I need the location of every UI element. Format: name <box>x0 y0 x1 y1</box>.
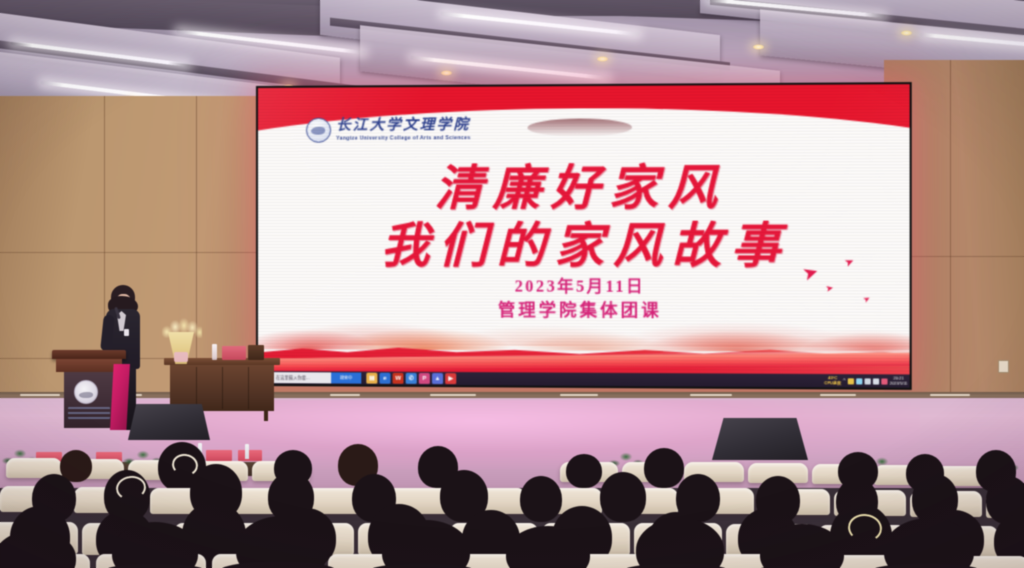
wechat-icon[interactable]: ✆ <box>406 373 417 384</box>
wall-outlet <box>998 360 1009 373</box>
taskbar-search-placeholder: 在这里输入你要... <box>276 375 310 381</box>
audience-head <box>600 472 646 522</box>
clock-date: 2023/5/11 <box>890 381 908 386</box>
slide-organizer: 管理学院集体团课 <box>258 300 910 322</box>
browser-icon[interactable]: e <box>379 373 390 384</box>
slide-subtitle-block: 2023年5月11日 管理学院集体团课 <box>258 278 910 322</box>
institution-name-en: Yangtze University College of Arts and S… <box>336 135 471 142</box>
audience-seating <box>0 430 1024 568</box>
word-icon[interactable]: W <box>393 373 404 384</box>
table-glassware <box>212 344 217 360</box>
windows-taskbar[interactable]: 在这里输入你要... 搜索中 ▤ e W ✆ P ▲ ▶ 43°C CPU温度 … <box>258 371 910 388</box>
table-dark-box <box>248 345 264 360</box>
taskbar-cortana-button[interactable]: 搜索中 <box>331 372 361 383</box>
podium-emblem-icon <box>74 380 98 404</box>
institution-name-cn: 长江大学文理学院 <box>336 118 471 134</box>
presentation-slide: 长江大学文理学院 Yangtze University College of A… <box>258 84 910 374</box>
system-tray: 43°C CPU温度 ^ 20:21 2023/5/11 <box>824 376 907 386</box>
photo-scene: 长江大学文理学院 Yangtze University College of A… <box>0 0 1024 568</box>
speaker-podium <box>58 350 120 428</box>
taskbar-app-icons: ▤ e W ✆ P ▲ ▶ <box>366 373 456 385</box>
audience-head <box>644 448 684 488</box>
slide-title-line1: 清廉好家风 <box>258 164 910 214</box>
network-icon[interactable] <box>856 378 862 384</box>
flower-bouquet <box>162 318 202 366</box>
ime-icon[interactable] <box>873 378 879 384</box>
media-icon[interactable]: ▶ <box>445 373 456 384</box>
cpu-temp-label: CPU温度 <box>824 381 841 386</box>
slide-title-block: 清廉好家风 我们的家风故事 <box>258 164 910 272</box>
powerpoint-icon[interactable]: P <box>419 373 430 384</box>
volume-icon[interactable] <box>864 378 870 384</box>
cloud-icon[interactable]: ▲ <box>432 373 443 384</box>
taskbar-clock[interactable]: 20:21 2023/5/11 <box>890 376 908 386</box>
taskbar-search-input[interactable]: 在这里输入你要... <box>273 372 331 383</box>
swallow-bird-icon: ➤ <box>825 284 835 295</box>
institution-logo: 长江大学文理学院 Yangtze University College of A… <box>306 117 471 143</box>
cpu-temperature-indicator[interactable]: 43°C CPU温度 <box>824 376 841 386</box>
chevron-up-icon[interactable]: ^ <box>843 378 845 384</box>
shield-icon[interactable] <box>848 378 854 384</box>
audience-head <box>566 454 602 488</box>
university-seal-icon <box>306 118 331 143</box>
notification-icon[interactable] <box>881 378 887 384</box>
table-red-box <box>222 346 246 360</box>
led-presentation-screen[interactable]: 长江大学文理学院 Yangtze University College of A… <box>256 82 912 390</box>
file-explorer-icon[interactable]: ▤ <box>366 373 377 384</box>
audience-head <box>520 476 562 522</box>
